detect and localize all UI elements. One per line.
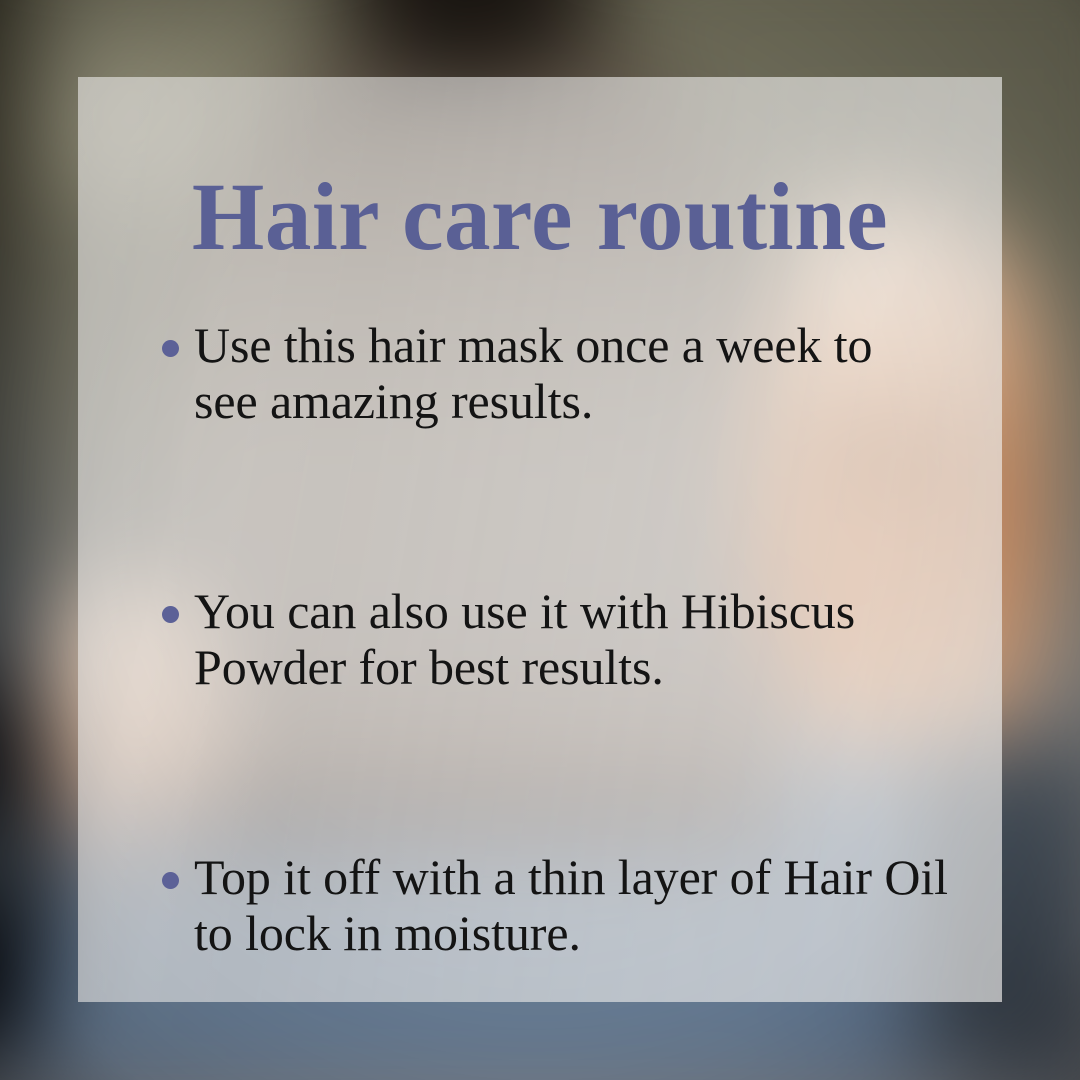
list-item-text: You can also use it with Hibiscus Powder… [194,583,894,695]
list-item: Top it off with a thin layer of Hair Oil… [162,849,962,961]
page-title: Hair care routine [92,169,988,265]
list-item: You can also use it with Hibiscus Powder… [162,583,962,695]
list-item: Use this hair mask once a week to see am… [162,317,962,429]
list-item-text: Use this hair mask once a week to see am… [194,317,894,429]
bullet-dot-icon [162,872,179,889]
content-panel: Hair care routine Use this hair mask onc… [78,77,1002,1002]
bullet-dot-icon [162,340,179,357]
poster-canvas: Hair care routine Use this hair mask onc… [0,0,1080,1080]
bullet-list: Use this hair mask once a week to see am… [162,317,962,961]
list-item-text: Top it off with a thin layer of Hair Oil… [194,849,984,961]
bullet-dot-icon [162,606,179,623]
